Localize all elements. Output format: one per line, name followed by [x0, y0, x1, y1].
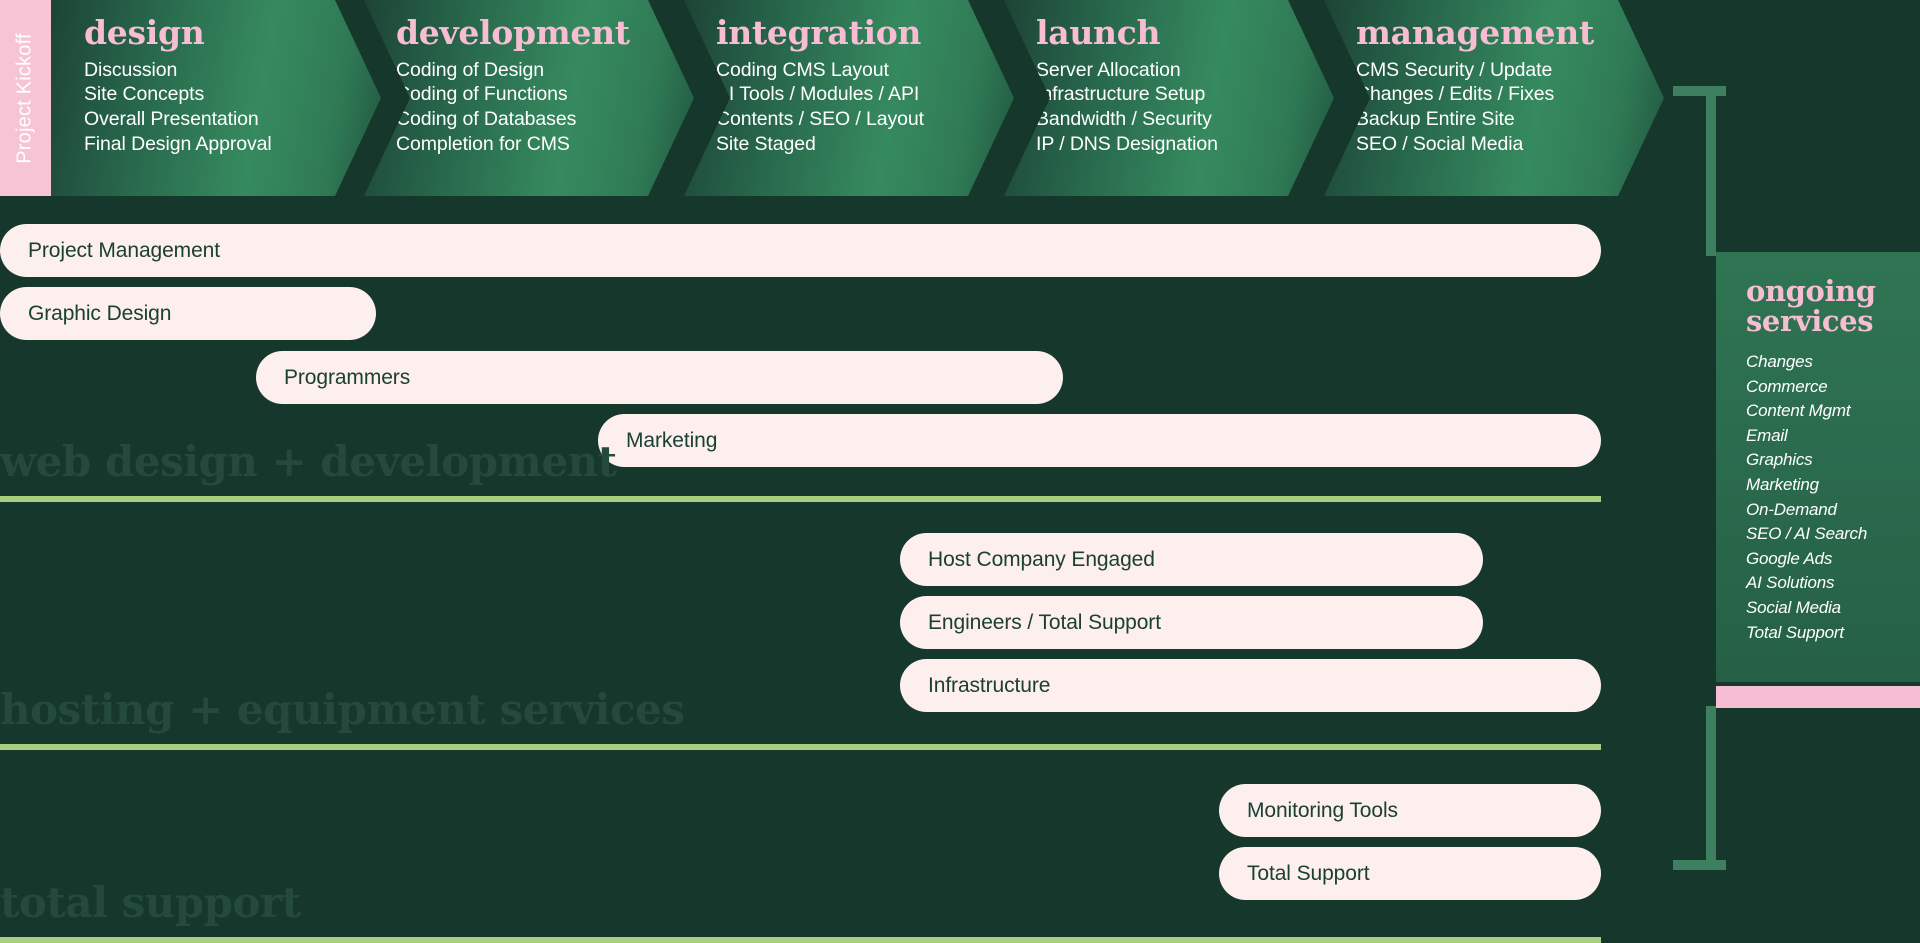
list-item: Graphics [1746, 448, 1920, 473]
band-label-total-support: total support [0, 881, 301, 925]
pill-label: Total Support [1219, 862, 1369, 886]
list-item: Total Support [1746, 621, 1920, 646]
list-item: AI Solutions [1746, 571, 1920, 596]
ongoing-services-title: ongoing services [1716, 252, 1920, 336]
phase-item: Final Design Approval [84, 132, 272, 157]
phase-title: launch [1036, 16, 1218, 51]
phase-item: Coding of Databases [396, 107, 630, 132]
pill-label: Programmers [256, 366, 410, 390]
phase-title: development [396, 16, 630, 51]
list-item: Marketing [1746, 473, 1920, 498]
phase-item: IP / DNS Designation [1036, 132, 1218, 157]
phase-title: management [1356, 16, 1594, 51]
phase-item: Changes / Edits / Fixes [1356, 82, 1594, 107]
list-item: Content Mgmt [1746, 399, 1920, 424]
pill-label: Infrastructure [900, 674, 1050, 698]
phase-item: Bandwidth / Security [1036, 107, 1218, 132]
band-label-web-design: web design + development [0, 440, 617, 484]
band-rule-hosting [0, 744, 1601, 750]
pill-engineers-total-support[interactable]: Engineers / Total Support [900, 596, 1483, 649]
process-timeline-diagram: Project Kickoff design Discussion Site C… [0, 0, 1920, 943]
list-item: Google Ads [1746, 547, 1920, 572]
pill-label: Project Management [0, 239, 220, 263]
list-item: SEO / AI Search [1746, 522, 1920, 547]
phase-item: CMS Security / Update [1356, 58, 1594, 83]
phase-chevron-management[interactable]: management CMS Security / Update Changes… [1324, 0, 1664, 196]
project-kickoff-tab: Project Kickoff [0, 0, 51, 196]
phase-item: Infrastructure Setup [1036, 82, 1218, 107]
pill-label: Engineers / Total Support [900, 611, 1161, 635]
bracket-lower-stem [1706, 706, 1716, 870]
bracket-upper-stem [1706, 86, 1716, 256]
pill-label: Graphic Design [0, 302, 171, 326]
phase-item: AI Tools / Modules / API [716, 82, 924, 107]
pill-host-company-engaged[interactable]: Host Company Engaged [900, 533, 1483, 586]
bracket-bottom-arm [1673, 860, 1726, 870]
list-item: Commerce [1746, 375, 1920, 400]
pill-total-support[interactable]: Total Support [1219, 847, 1601, 900]
phase-item: Overall Presentation [84, 107, 272, 132]
phase-chevron-integration[interactable]: integration Coding CMS Layout AI Tools /… [684, 0, 1014, 196]
pill-infrastructure[interactable]: Infrastructure [900, 659, 1601, 712]
phase-item: Coding of Functions [396, 82, 630, 107]
list-item: On-Demand [1746, 498, 1920, 523]
phase-chevron-row: design Discussion Site Concepts Overall … [51, 0, 1651, 196]
project-kickoff-label: Project Kickoff [14, 33, 37, 163]
phase-item: Server Allocation [1036, 58, 1218, 83]
ongoing-services-list: Changes Commerce Content Mgmt Email Grap… [1716, 350, 1920, 645]
ongoing-services-title-line1: ongoing [1746, 276, 1920, 306]
phase-chevron-design[interactable]: design Discussion Site Concepts Overall … [51, 0, 381, 196]
phase-title: integration [716, 16, 924, 51]
phase-chevron-launch[interactable]: launch Server Allocation Infrastructure … [1004, 0, 1334, 196]
pill-label: Host Company Engaged [900, 548, 1155, 572]
pill-monitoring-tools[interactable]: Monitoring Tools [1219, 784, 1601, 837]
pill-programmers[interactable]: Programmers [256, 351, 1063, 404]
phase-item: Completion for CMS [396, 132, 630, 157]
phase-item: Contents / SEO / Layout [716, 107, 924, 132]
pill-marketing[interactable]: Marketing [598, 414, 1601, 467]
ongoing-services-title-line2: services [1746, 306, 1920, 336]
phase-item: Coding CMS Layout [716, 58, 924, 83]
pill-graphic-design[interactable]: Graphic Design [0, 287, 376, 340]
phase-title: design [84, 16, 272, 51]
phase-item: Site Concepts [84, 82, 272, 107]
phase-item: Coding of Design [396, 58, 630, 83]
ongoing-services-panel: ongoing services Changes Commerce Conten… [1716, 252, 1920, 682]
pill-project-management[interactable]: Project Management [0, 224, 1601, 277]
list-item: Email [1746, 424, 1920, 449]
band-rule-total-support [0, 937, 1601, 943]
band-rule-web-design [0, 496, 1601, 502]
phase-item: Backup Entire Site [1356, 107, 1594, 132]
pink-accent-bar [1716, 686, 1920, 708]
bracket-top-arm [1673, 86, 1726, 96]
list-item: Social Media [1746, 596, 1920, 621]
phase-item: Discussion [84, 58, 272, 83]
phase-item: Site Staged [716, 132, 924, 157]
band-label-hosting: hosting + equipment services [0, 688, 684, 732]
phase-chevron-development[interactable]: development Coding of Design Coding of F… [364, 0, 694, 196]
phase-item: SEO / Social Media [1356, 132, 1594, 157]
pill-label: Monitoring Tools [1219, 799, 1398, 823]
list-item: Changes [1746, 350, 1920, 375]
